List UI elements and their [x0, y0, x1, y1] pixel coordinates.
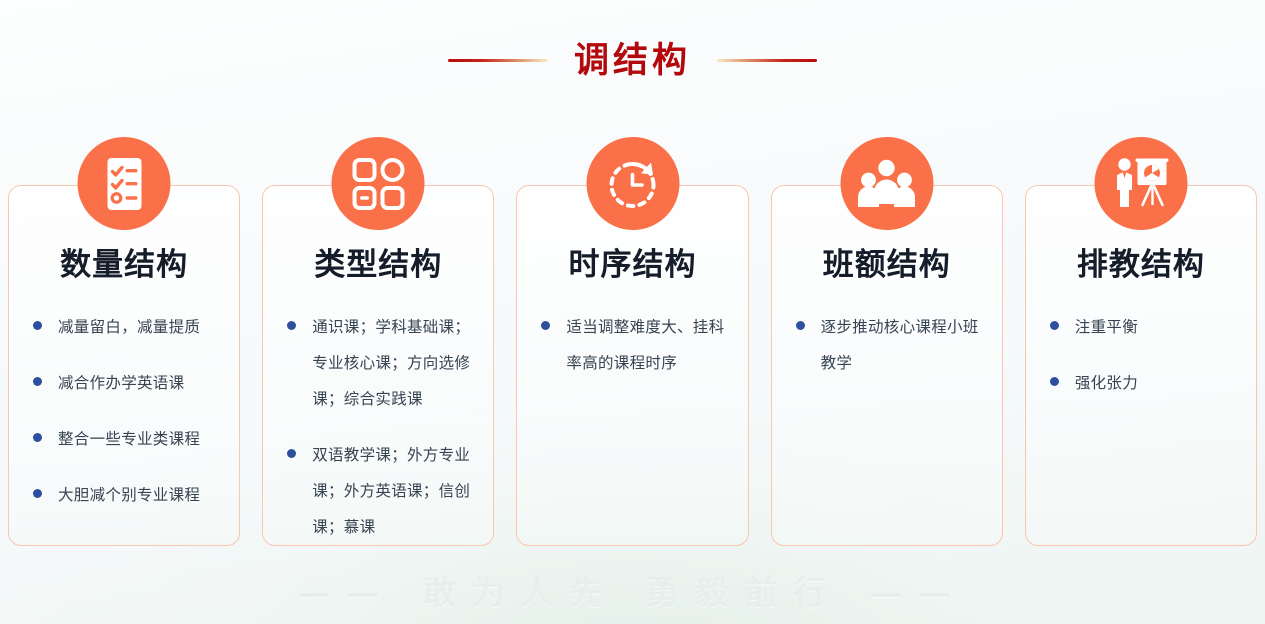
bullet-text: 注重平衡	[1075, 310, 1138, 346]
footer-watermark: —— 敢为人先 勇毅前行 ——	[0, 562, 1265, 618]
card-title: 时序结构	[531, 248, 733, 282]
list-item: 通识课；学科基础课；专业核心课；方向选修课；综合实践课	[287, 310, 479, 418]
card-teaching-assignment-structure[interactable]: 排教结构 注重平衡 强化张力	[1025, 185, 1257, 546]
bullet-dot-icon	[1050, 321, 1059, 330]
bullet-text: 大胆减个别专业课程	[58, 478, 200, 514]
card-bullet-list: 注重平衡 强化张力	[1040, 310, 1242, 402]
card-bullet-list: 通识课；学科基础课；专业核心课；方向选修课；综合实践课 双语教学课；外方专业课；…	[277, 310, 479, 546]
page-title: 调结构	[574, 43, 691, 78]
card-bullet-list: 减量留白，减量提质 减合作办学英语课 整合一些专业类课程 大胆减个别专业课程	[23, 310, 225, 514]
bullet-dot-icon	[33, 489, 42, 498]
bullet-text: 减量留白，减量提质	[58, 310, 200, 346]
list-item: 双语教学课；外方专业课；外方英语课；信创课；慕课	[287, 438, 479, 546]
bullet-text: 适当调整难度大、挂科率高的课程时序	[566, 310, 733, 382]
bullet-dot-icon	[1050, 377, 1059, 386]
list-item: 减合作办学英语课	[33, 366, 225, 402]
bullet-text: 双语教学课；外方专业课；外方英语课；信创课；慕课	[312, 438, 479, 546]
people-group-icon	[840, 137, 933, 230]
bullet-text: 减合作办学英语课	[58, 366, 184, 402]
checklist-icon	[78, 137, 171, 230]
grid-squares-icon	[332, 137, 425, 230]
bullet-dot-icon	[33, 377, 42, 386]
bullet-text: 通识课；学科基础课；专业核心课；方向选修课；综合实践课	[312, 310, 479, 418]
card-title: 班额结构	[786, 248, 988, 282]
bullet-dot-icon	[796, 321, 805, 330]
card-title: 排教结构	[1040, 248, 1242, 282]
presenter-chart-icon	[1094, 137, 1187, 230]
bullet-dot-icon	[287, 449, 296, 458]
structure-card-list: 数量结构 减量留白，减量提质 减合作办学英语课 整合一些专业类课程 大胆减个别专…	[8, 185, 1257, 546]
card-bullet-list: 逐步推动核心课程小班教学	[786, 310, 988, 382]
list-item: 强化张力	[1050, 366, 1242, 402]
card-bullet-list: 适当调整难度大、挂科率高的课程时序	[531, 310, 733, 382]
card-title: 数量结构	[23, 248, 225, 282]
headline-rule-right	[717, 59, 817, 62]
bullet-dot-icon	[541, 321, 550, 330]
bullet-text: 整合一些专业类课程	[58, 422, 200, 458]
page-headline: 调结构	[0, 32, 1265, 88]
card-quantity-structure[interactable]: 数量结构 减量留白，减量提质 减合作办学英语课 整合一些专业类课程 大胆减个别专…	[8, 185, 240, 546]
list-item: 减量留白，减量提质	[33, 310, 225, 346]
list-item: 逐步推动核心课程小班教学	[796, 310, 988, 382]
list-item: 大胆减个别专业课程	[33, 478, 225, 514]
card-sequence-structure[interactable]: 时序结构 适当调整难度大、挂科率高的课程时序	[516, 185, 748, 546]
bullet-text: 逐步推动核心课程小班教学	[821, 310, 988, 382]
bullet-dot-icon	[33, 433, 42, 442]
clock-history-icon	[586, 137, 679, 230]
headline-rule-left	[448, 59, 548, 62]
watermark-text: —— 敢为人先 勇毅前行 ——	[297, 566, 967, 614]
card-type-structure[interactable]: 类型结构 通识课；学科基础课；专业核心课；方向选修课；综合实践课 双语教学课；外…	[262, 185, 494, 546]
list-item: 注重平衡	[1050, 310, 1242, 346]
list-item: 整合一些专业类课程	[33, 422, 225, 458]
card-class-size-structure[interactable]: 班额结构 逐步推动核心课程小班教学	[771, 185, 1003, 546]
bullet-dot-icon	[287, 321, 296, 330]
card-title: 类型结构	[277, 248, 479, 282]
bullet-dot-icon	[33, 321, 42, 330]
list-item: 适当调整难度大、挂科率高的课程时序	[541, 310, 733, 382]
bullet-text: 强化张力	[1075, 366, 1138, 402]
